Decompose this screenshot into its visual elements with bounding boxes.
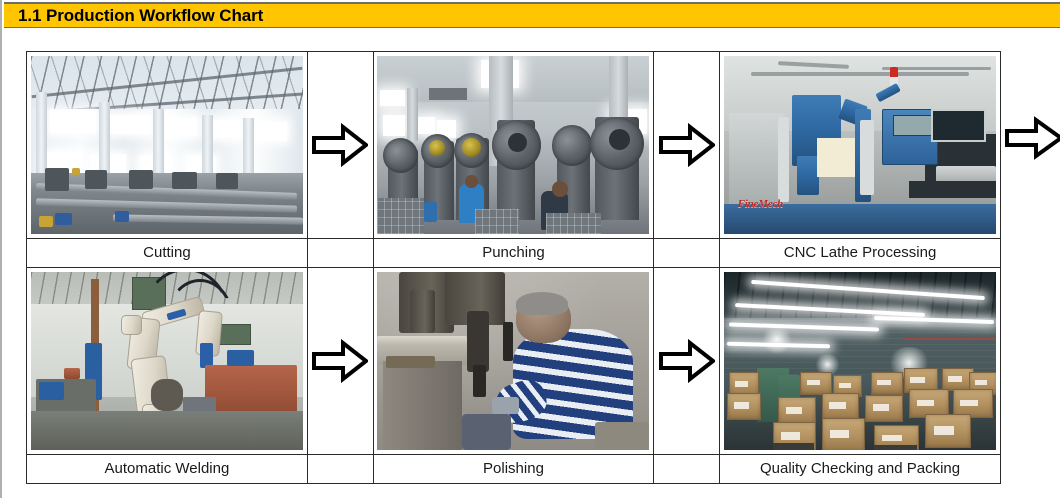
arrow-cell-1 (307, 52, 373, 239)
arrow-cell-3-spacer (307, 455, 373, 484)
page-title: 1.1 Production Workflow Chart (4, 6, 263, 26)
table-row: Automatic Welding Polishing Quality Chec… (27, 455, 1001, 484)
right-block-arrow-icon (312, 123, 368, 167)
photo-cutting (31, 56, 303, 234)
caption-cnc: CNC Lathe Processing (720, 239, 1001, 268)
table-row: FineMech (27, 52, 1001, 239)
caption-polishing: Polishing (373, 455, 654, 484)
right-block-arrow-icon (312, 339, 368, 383)
photo-cell-polishing (373, 268, 654, 455)
photo-polishing (377, 272, 649, 450)
production-workflow-table: FineMech Cutting Punching CNC Lathe Proc… (26, 51, 1001, 484)
caption-cutting: Cutting (27, 239, 308, 268)
photo-cell-cnc: FineMech (720, 52, 1001, 239)
right-block-arrow-icon (659, 123, 715, 167)
arrow-cell-1-spacer (307, 239, 373, 268)
arrow-cell-4-spacer (654, 455, 720, 484)
table-row (27, 268, 1001, 455)
caption-punching: Punching (373, 239, 654, 268)
document-page: 1.1 Production Workflow Chart (0, 0, 1060, 498)
arrow-cell-2-spacer (654, 239, 720, 268)
photo-punching (377, 56, 649, 234)
photo-cell-cutting (27, 52, 308, 239)
right-block-arrow-icon (659, 339, 715, 383)
photo-cell-punching (373, 52, 654, 239)
caption-automatic-welding: Automatic Welding (27, 455, 308, 484)
table-row: Cutting Punching CNC Lathe Processing (27, 239, 1001, 268)
arrow-cell-3 (307, 268, 373, 455)
arrow-cell-4 (654, 268, 720, 455)
caption-quality-packing: Quality Checking and Packing (720, 455, 1001, 484)
photo-cell-welding (27, 268, 308, 455)
photo-cnc-lathe: FineMech (724, 56, 996, 234)
photo-automatic-welding (31, 272, 303, 450)
right-block-arrow-icon-trailing (1005, 116, 1060, 160)
arrow-cell-2 (654, 52, 720, 239)
cnc-brand-logo: FineMech (738, 198, 783, 210)
photo-cell-packing (720, 268, 1001, 455)
photo-quality-packing (724, 272, 996, 450)
section-header: 1.1 Production Workflow Chart (4, 2, 1060, 28)
